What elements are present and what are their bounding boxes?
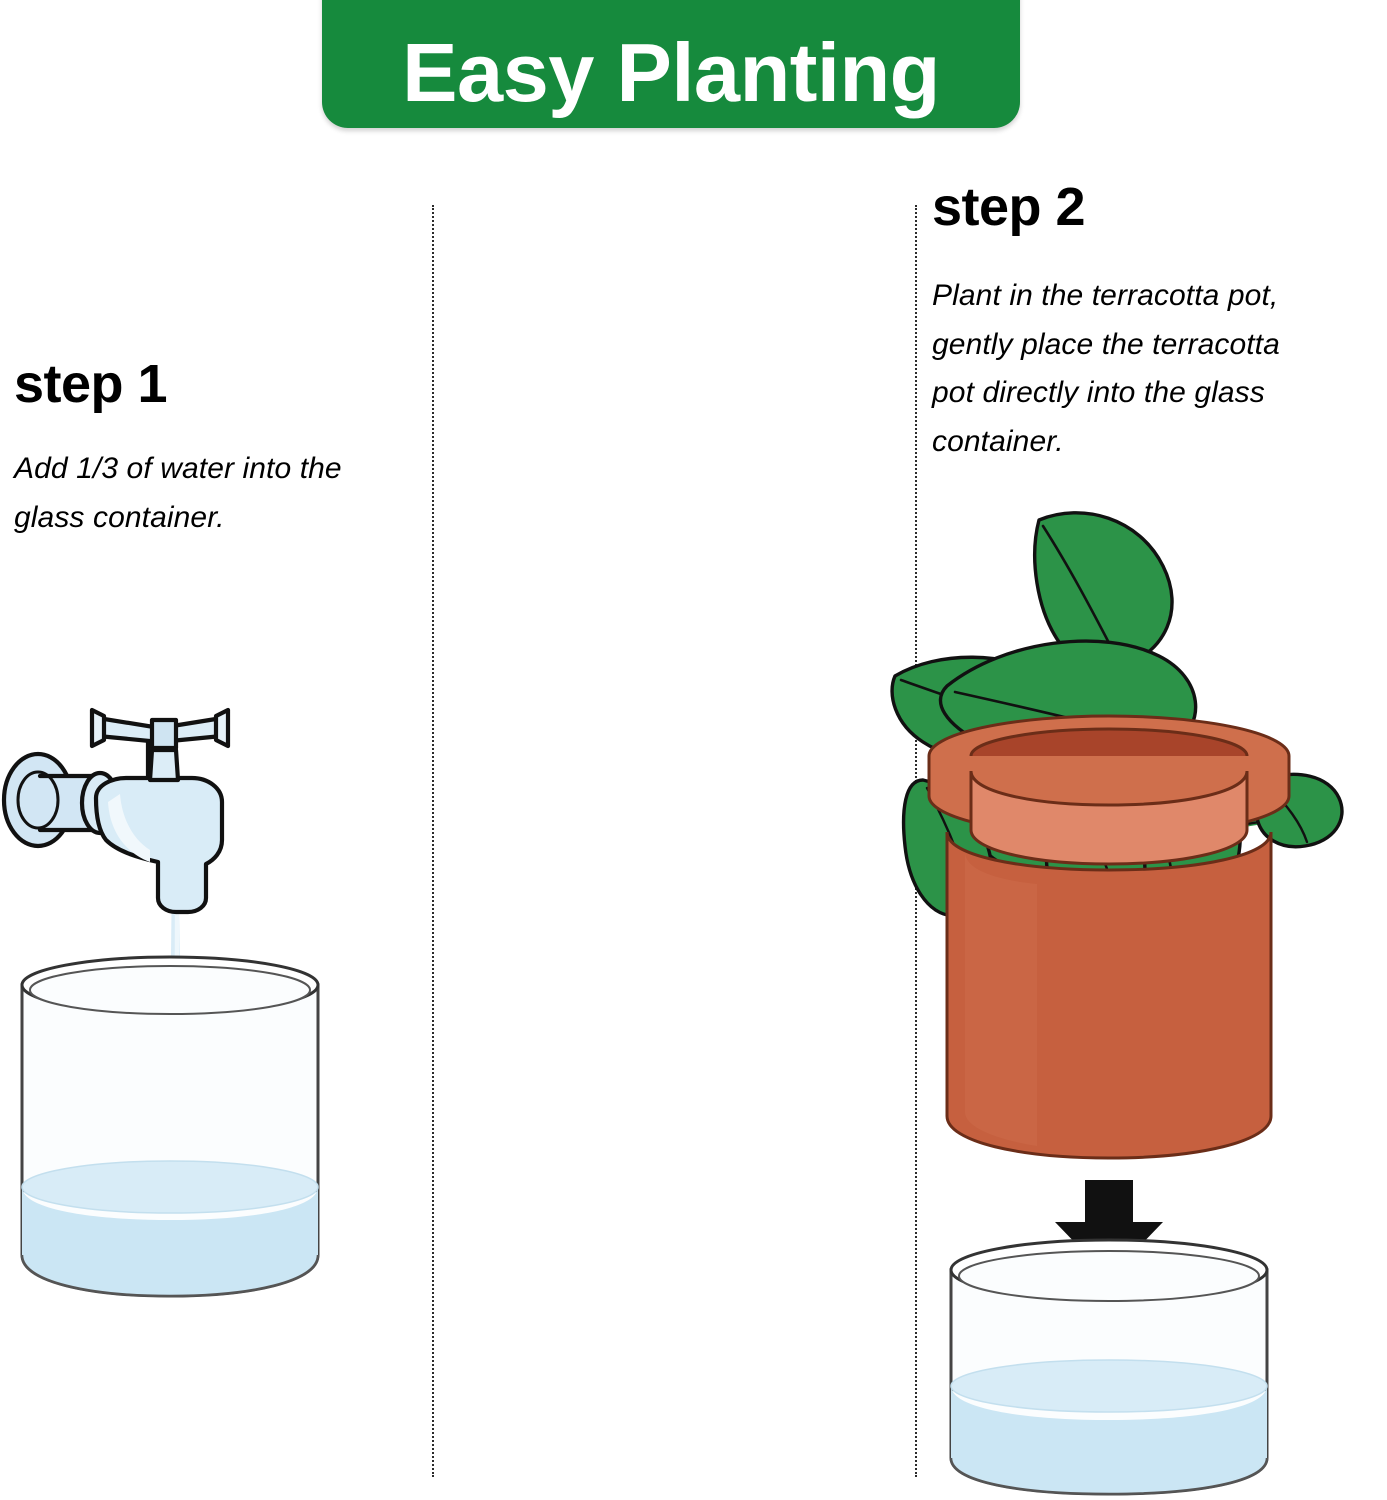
step-1-column: step 1 Add 1/3 of water into the glass c… <box>0 0 432 1500</box>
step-3-column: step 3 Plants and terracotta pot will ab… <box>915 0 1387 1500</box>
step-2-column: step 2 Plant in the terracotta pot, gent… <box>432 0 915 1500</box>
step-1-body: Add 1/3 of water into the glass containe… <box>14 445 374 542</box>
faucet-icon <box>4 710 228 912</box>
glass-container <box>22 957 318 1296</box>
step-1-heading: step 1 <box>14 357 167 411</box>
step-1-illustration <box>0 690 370 1330</box>
